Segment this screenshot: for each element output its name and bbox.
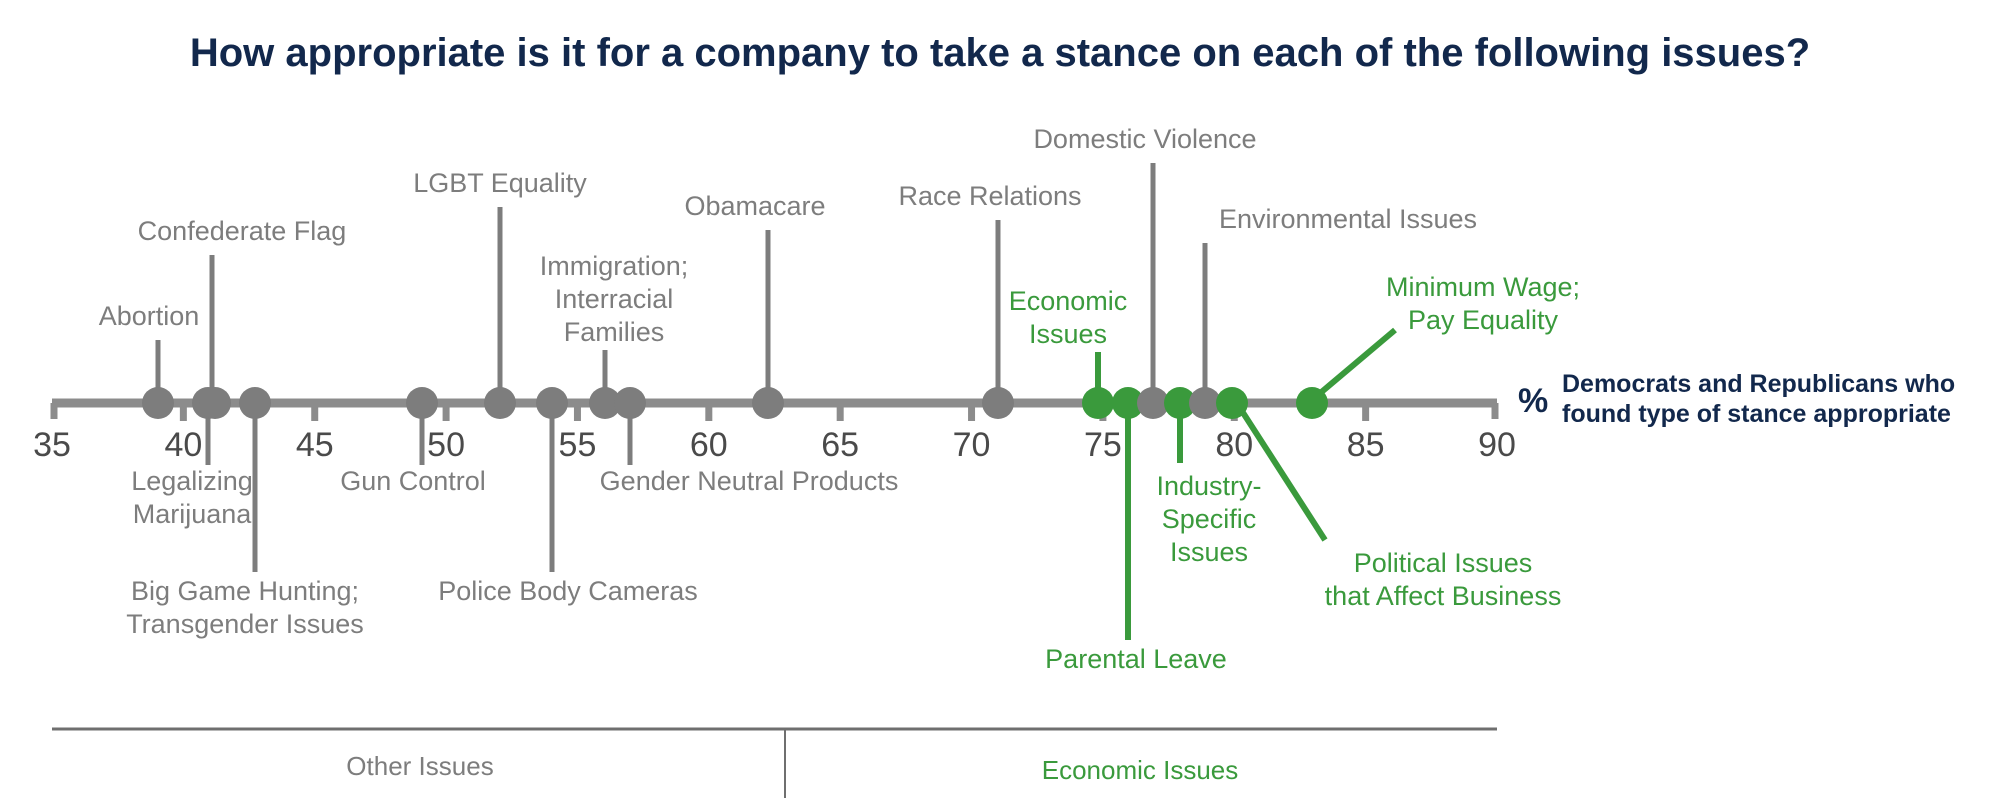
dot-political-issues[interactable]: [1216, 387, 1248, 419]
label-police-body-cameras: Police Body Cameras: [438, 576, 698, 606]
label-minimum-wage-pay-equality-line-1: Minimum Wage;: [1386, 272, 1580, 302]
dot-minimum-wage-pay-equality[interactable]: [1296, 387, 1328, 419]
legend-label-economic-issues: Economic Issues: [1042, 755, 1239, 785]
slopechart-svg: How appropriate is it for a company to t…: [0, 0, 2000, 798]
label-environmental-issues: Environmental Issues: [1219, 204, 1477, 234]
x-tick-label-75: 75: [1084, 426, 1122, 464]
dot-economic-issues[interactable]: [1082, 387, 1114, 419]
x-tick-label-45: 45: [296, 426, 334, 464]
label-gender-neutral-products: Gender Neutral Products: [600, 466, 899, 496]
dot-police-body-cameras[interactable]: [536, 387, 568, 419]
label-political-issues-that-affect-business: Political Issuesthat Affect Business: [1325, 548, 1562, 611]
label-gun-control: Gun Control: [340, 466, 486, 496]
x-tick-label-90: 90: [1478, 426, 1516, 464]
dot-confederate-flag[interactable]: [199, 387, 231, 419]
label-race-relations-line-1: Race Relations: [898, 181, 1081, 211]
label-industry-specific-issues-line-3: Issues: [1170, 537, 1248, 567]
dot-obamacare[interactable]: [752, 387, 784, 419]
label-parental-leave-line-1: Parental Leave: [1045, 644, 1227, 674]
label-economic-issues-callout-line-1: Economic: [1009, 286, 1128, 316]
label-immigration-interracial-families-line-1: Immigration;: [540, 251, 689, 281]
label-gender-neutral-products-line-1: Gender Neutral Products: [600, 466, 899, 496]
dot-big-game-hunting[interactable]: [239, 387, 271, 419]
dot-gender-neutral-products[interactable]: [614, 387, 646, 419]
label-minimum-wage-pay-equality: Minimum Wage;Pay Equality: [1386, 272, 1580, 335]
x-tick-label-50: 50: [427, 426, 465, 464]
label-minimum-wage-pay-equality-line-2: Pay Equality: [1408, 305, 1559, 335]
label-political-issues-that-affect-business-line-2: that Affect Business: [1325, 581, 1562, 611]
x-tick-label-80: 80: [1215, 426, 1253, 464]
label-big-game-hunting-transgender-issues-line-2: Transgender Issues: [126, 609, 364, 639]
label-abortion: Abortion: [99, 301, 200, 331]
label-obamacare-line-1: Obamacare: [684, 191, 825, 221]
label-industry-specific-issues: Industry-SpecificIssues: [1156, 471, 1261, 567]
x-tick-label-55: 55: [559, 426, 597, 464]
label-immigration-interracial-families-line-2: Interracial: [555, 284, 674, 314]
x-tick-label-60: 60: [690, 426, 728, 464]
label-legalizing-marijuana-line-2: Marijuana: [133, 499, 253, 529]
percent-symbol: %: [1518, 382, 1548, 420]
label-economic-issues-callout: EconomicIssues: [1009, 286, 1128, 349]
dot-lgbt-equality[interactable]: [484, 387, 516, 419]
connector-minimum-wage-pay-equality: [1312, 330, 1395, 400]
label-immigration-interracial-families: Immigration;InterracialFamilies: [540, 251, 689, 347]
axis-caption-line-2: found type of stance appropriate: [1562, 400, 1951, 428]
label-race-relations: Race Relations: [898, 181, 1081, 211]
label-immigration-interracial-families-line-3: Families: [564, 317, 665, 347]
legend-label-other-issues: Other Issues: [346, 751, 493, 781]
label-industry-specific-issues-line-2: Specific: [1162, 504, 1257, 534]
label-legalizing-marijuana-line-1: Legalizing: [131, 466, 253, 496]
label-big-game-hunting-transgender-issues-line-1: Big Game Hunting;: [131, 576, 359, 606]
label-economic-issues-callout-line-2: Issues: [1029, 319, 1107, 349]
dot-gun-control[interactable]: [406, 387, 438, 419]
label-confederate-flag: Confederate Flag: [138, 216, 347, 246]
dot-race-relations[interactable]: [982, 387, 1014, 419]
label-political-issues-that-affect-business-line-1: Political Issues: [1354, 548, 1533, 578]
label-parental-leave: Parental Leave: [1045, 644, 1227, 674]
dot-abortion[interactable]: [142, 387, 174, 419]
label-industry-specific-issues-line-1: Industry-: [1156, 471, 1261, 501]
x-tick-label-40: 40: [164, 426, 202, 464]
label-big-game-hunting-transgender-issues: Big Game Hunting;Transgender Issues: [126, 576, 364, 639]
label-lgbt-equality-line-1: LGBT Equality: [413, 168, 587, 198]
label-obamacare: Obamacare: [684, 191, 825, 221]
axis-caption-line-1: Democrats and Republicans who: [1562, 370, 1955, 398]
label-police-body-cameras-line-1: Police Body Cameras: [438, 576, 698, 606]
label-domestic-violence-line-1: Domestic Violence: [1033, 124, 1256, 154]
x-tick-label-35: 35: [33, 426, 71, 464]
chart-canvas: How appropriate is it for a company to t…: [0, 0, 2000, 798]
page-title: How appropriate is it for a company to t…: [190, 31, 1810, 75]
label-legalizing-marijuana: LegalizingMarijuana: [131, 466, 253, 529]
label-lgbt-equality: LGBT Equality: [413, 168, 587, 198]
label-domestic-violence: Domestic Violence: [1033, 124, 1256, 154]
x-tick-label-65: 65: [821, 426, 859, 464]
label-confederate-flag-line-1: Confederate Flag: [138, 216, 347, 246]
x-tick-label-85: 85: [1347, 426, 1385, 464]
label-gun-control-line-1: Gun Control: [340, 466, 486, 496]
x-tick-label-70: 70: [953, 426, 991, 464]
label-environmental-issues-line-1: Environmental Issues: [1219, 204, 1477, 234]
label-abortion-line-1: Abortion: [99, 301, 200, 331]
